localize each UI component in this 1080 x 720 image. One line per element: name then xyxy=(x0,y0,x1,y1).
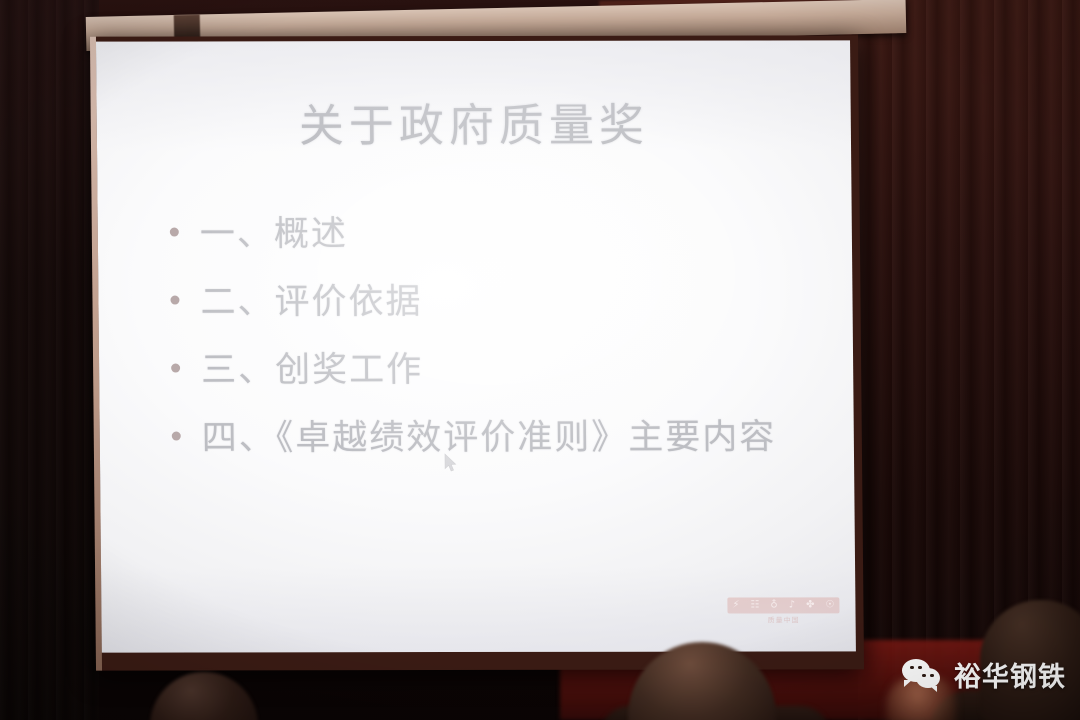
list-item-label: 一、概述 xyxy=(200,205,349,256)
stage-curtain-left xyxy=(0,0,99,720)
wechat-eye xyxy=(910,666,914,670)
logo-glyph-icon: ☷ xyxy=(750,600,759,610)
slide-corner-logo: ⚡ ☷ ♁ ♪ ✤ ☉ 质量中国 xyxy=(727,597,839,625)
list-item: 三、创奖工作 xyxy=(171,340,830,392)
slide-title: 关于政府质量奖 xyxy=(96,88,851,154)
bullet-dot-icon xyxy=(170,228,179,237)
slide-corner-logo-bar: ⚡ ☷ ♁ ♪ ✤ ☉ xyxy=(727,597,839,613)
list-item-label: 二、评价依据 xyxy=(200,273,423,324)
list-item: 一、概述 xyxy=(170,204,829,256)
bullet-dot-icon xyxy=(170,296,179,305)
wechat-watermark: 裕华钢铁 xyxy=(902,655,1066,694)
list-item: 二、评价依据 xyxy=(170,272,829,324)
wechat-eye xyxy=(930,674,934,678)
logo-glyph-icon: ♪ xyxy=(789,600,795,610)
logo-glyph-icon: ☉ xyxy=(825,600,834,610)
mouse-cursor-icon xyxy=(444,453,457,472)
wechat-icon xyxy=(902,659,944,691)
bullet-dot-icon xyxy=(171,364,180,373)
slide-corner-logo-caption: 质量中国 xyxy=(728,615,840,625)
wechat-bubble-front xyxy=(916,668,940,688)
list-item-label: 三、创奖工作 xyxy=(201,341,424,392)
logo-glyph-icon: ✤ xyxy=(806,600,814,610)
slide-bullet-list: 一、概述 二、评价依据 三、创奖工作 四、《卓越绩效评价准则》主要内容 xyxy=(170,204,831,477)
presentation-slide: 关于政府质量奖 一、概述 二、评价依据 三、创奖工作 四、《卓越绩效评价准则》主… xyxy=(96,40,856,652)
bullet-dot-icon xyxy=(172,432,181,441)
wechat-eye xyxy=(922,674,926,678)
watermark-label: 裕华钢铁 xyxy=(954,655,1066,694)
list-item-label: 四、《卓越绩效评价准则》主要内容 xyxy=(202,408,777,460)
projector-screen-frame: 关于政府质量奖 一、概述 二、评价依据 三、创奖工作 四、《卓越绩效评价准则》主… xyxy=(90,35,864,670)
list-item: 四、《卓越绩效评价准则》主要内容 xyxy=(172,408,831,460)
logo-glyph-icon: ♁ xyxy=(770,600,777,610)
logo-glyph-icon: ⚡ xyxy=(732,601,739,611)
auditorium-photo-scene: ◢PANASONIC 关于政府质量奖 一、概述 二、评价依据 三、创奖工作 xyxy=(0,0,1080,720)
